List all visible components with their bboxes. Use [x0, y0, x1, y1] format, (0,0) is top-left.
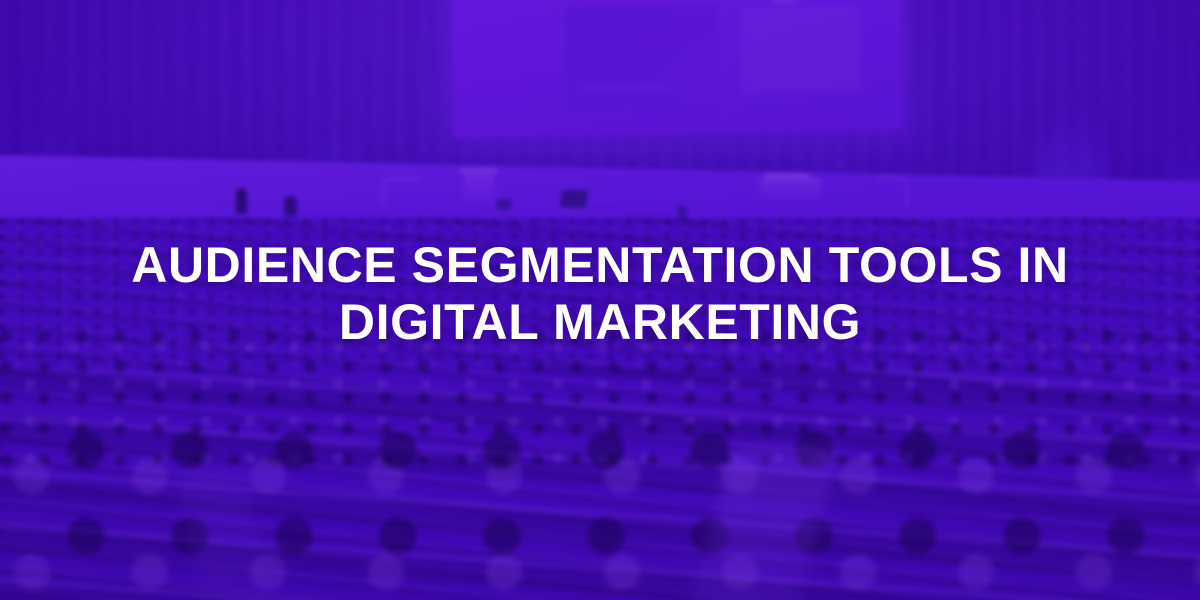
- page-title-line-1: AUDIENCE SEGMENTATION TOOLS IN: [131, 237, 1068, 293]
- title-layer: AUDIENCE SEGMENTATION TOOLS INDIGITAL MA…: [0, 0, 1200, 600]
- hero-banner: AUDIENCE SEGMENTATION TOOLS INDIGITAL MA…: [0, 0, 1200, 600]
- page-title-line-2: DIGITAL MARKETING: [339, 294, 861, 350]
- page-title: AUDIENCE SEGMENTATION TOOLS INDIGITAL MA…: [100, 237, 1100, 351]
